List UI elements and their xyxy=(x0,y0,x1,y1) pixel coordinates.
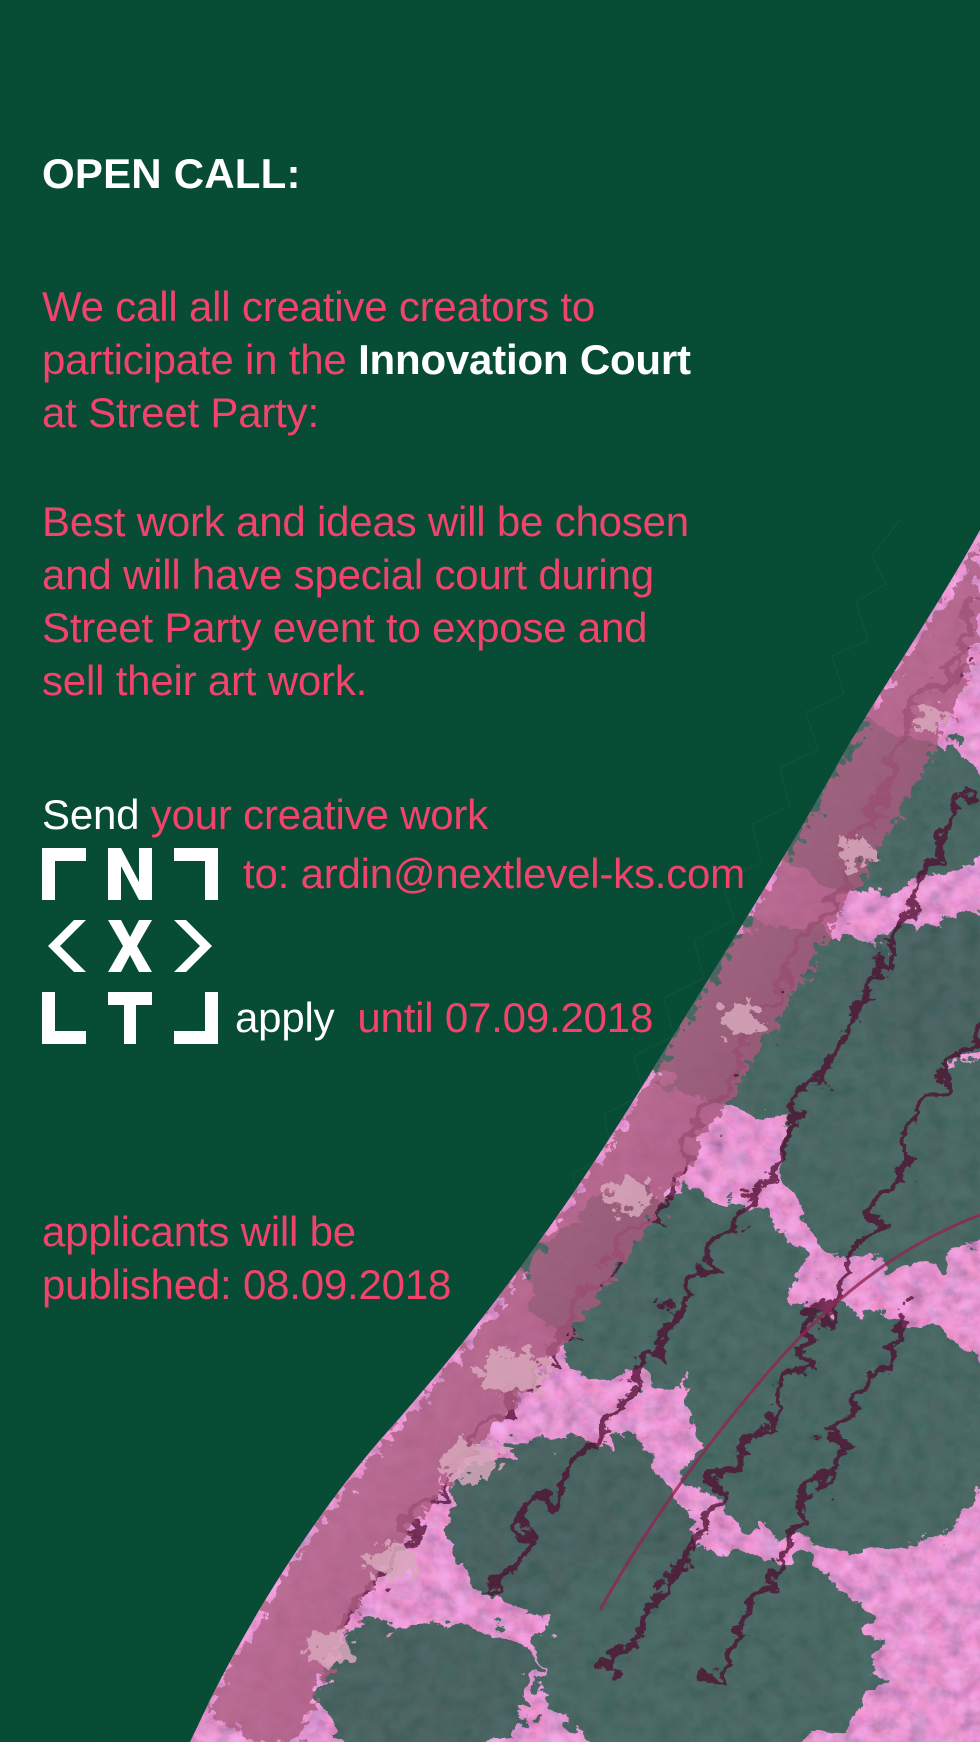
logo-row-bottom xyxy=(42,992,217,1064)
best-line-2: and will have special court during xyxy=(42,551,654,598)
apply-label: apply xyxy=(235,994,334,1041)
best-line-1: Best work and ideas will be chosen xyxy=(42,498,689,545)
logo-row-top xyxy=(42,848,217,920)
send-label: Send xyxy=(42,791,139,838)
best-line-3: Street Party event to expose and xyxy=(42,604,647,651)
logo-row-middle xyxy=(42,920,217,992)
chevron-right-icon xyxy=(174,920,218,972)
corner-bottom-right-icon xyxy=(174,992,218,1044)
page-title: OPEN CALL: xyxy=(42,150,301,198)
send-creative-work-label: your creative work xyxy=(151,791,488,838)
letter-x-icon xyxy=(108,920,152,972)
published-line-2: published: 08.09.2018 xyxy=(42,1261,451,1308)
intro-paragraph: We call all creative creators to partici… xyxy=(42,280,762,439)
best-line-4: sell their art work. xyxy=(42,657,367,704)
nxt-logo-grid xyxy=(42,848,217,1064)
chevron-left-icon xyxy=(42,920,86,972)
intro-line-1: We call all creative creators to xyxy=(42,283,595,330)
published-paragraph: applicants will be published: 08.09.2018 xyxy=(42,1205,662,1311)
intro-line-2-prefix: participate in the xyxy=(42,336,358,383)
send-instruction: Send your creative work xyxy=(42,788,488,841)
letter-n-icon xyxy=(108,848,152,900)
letter-t-icon xyxy=(108,992,152,1044)
email-address[interactable]: to: ardin@nextlevel-ks.com xyxy=(243,850,745,897)
email-contact-line[interactable]: to: ardin@nextlevel-ks.com xyxy=(243,848,745,900)
corner-bottom-left-icon xyxy=(42,992,86,1044)
corner-top-right-icon xyxy=(174,848,218,900)
corner-top-left-icon xyxy=(42,848,86,900)
apply-deadline-line: apply until 07.09.2018 xyxy=(235,992,653,1044)
apply-deadline: until 07.09.2018 xyxy=(357,994,653,1041)
published-line-1: applicants will be xyxy=(42,1208,356,1255)
intro-line-3: at Street Party: xyxy=(42,389,319,436)
poster-content: OPEN CALL: We call all creative creators… xyxy=(0,0,980,1742)
innovation-court-emphasis: Innovation Court xyxy=(358,336,691,383)
poster-canvas: OPEN CALL: We call all creative creators… xyxy=(0,0,980,1742)
best-work-paragraph: Best work and ideas will be chosen and w… xyxy=(42,495,762,707)
